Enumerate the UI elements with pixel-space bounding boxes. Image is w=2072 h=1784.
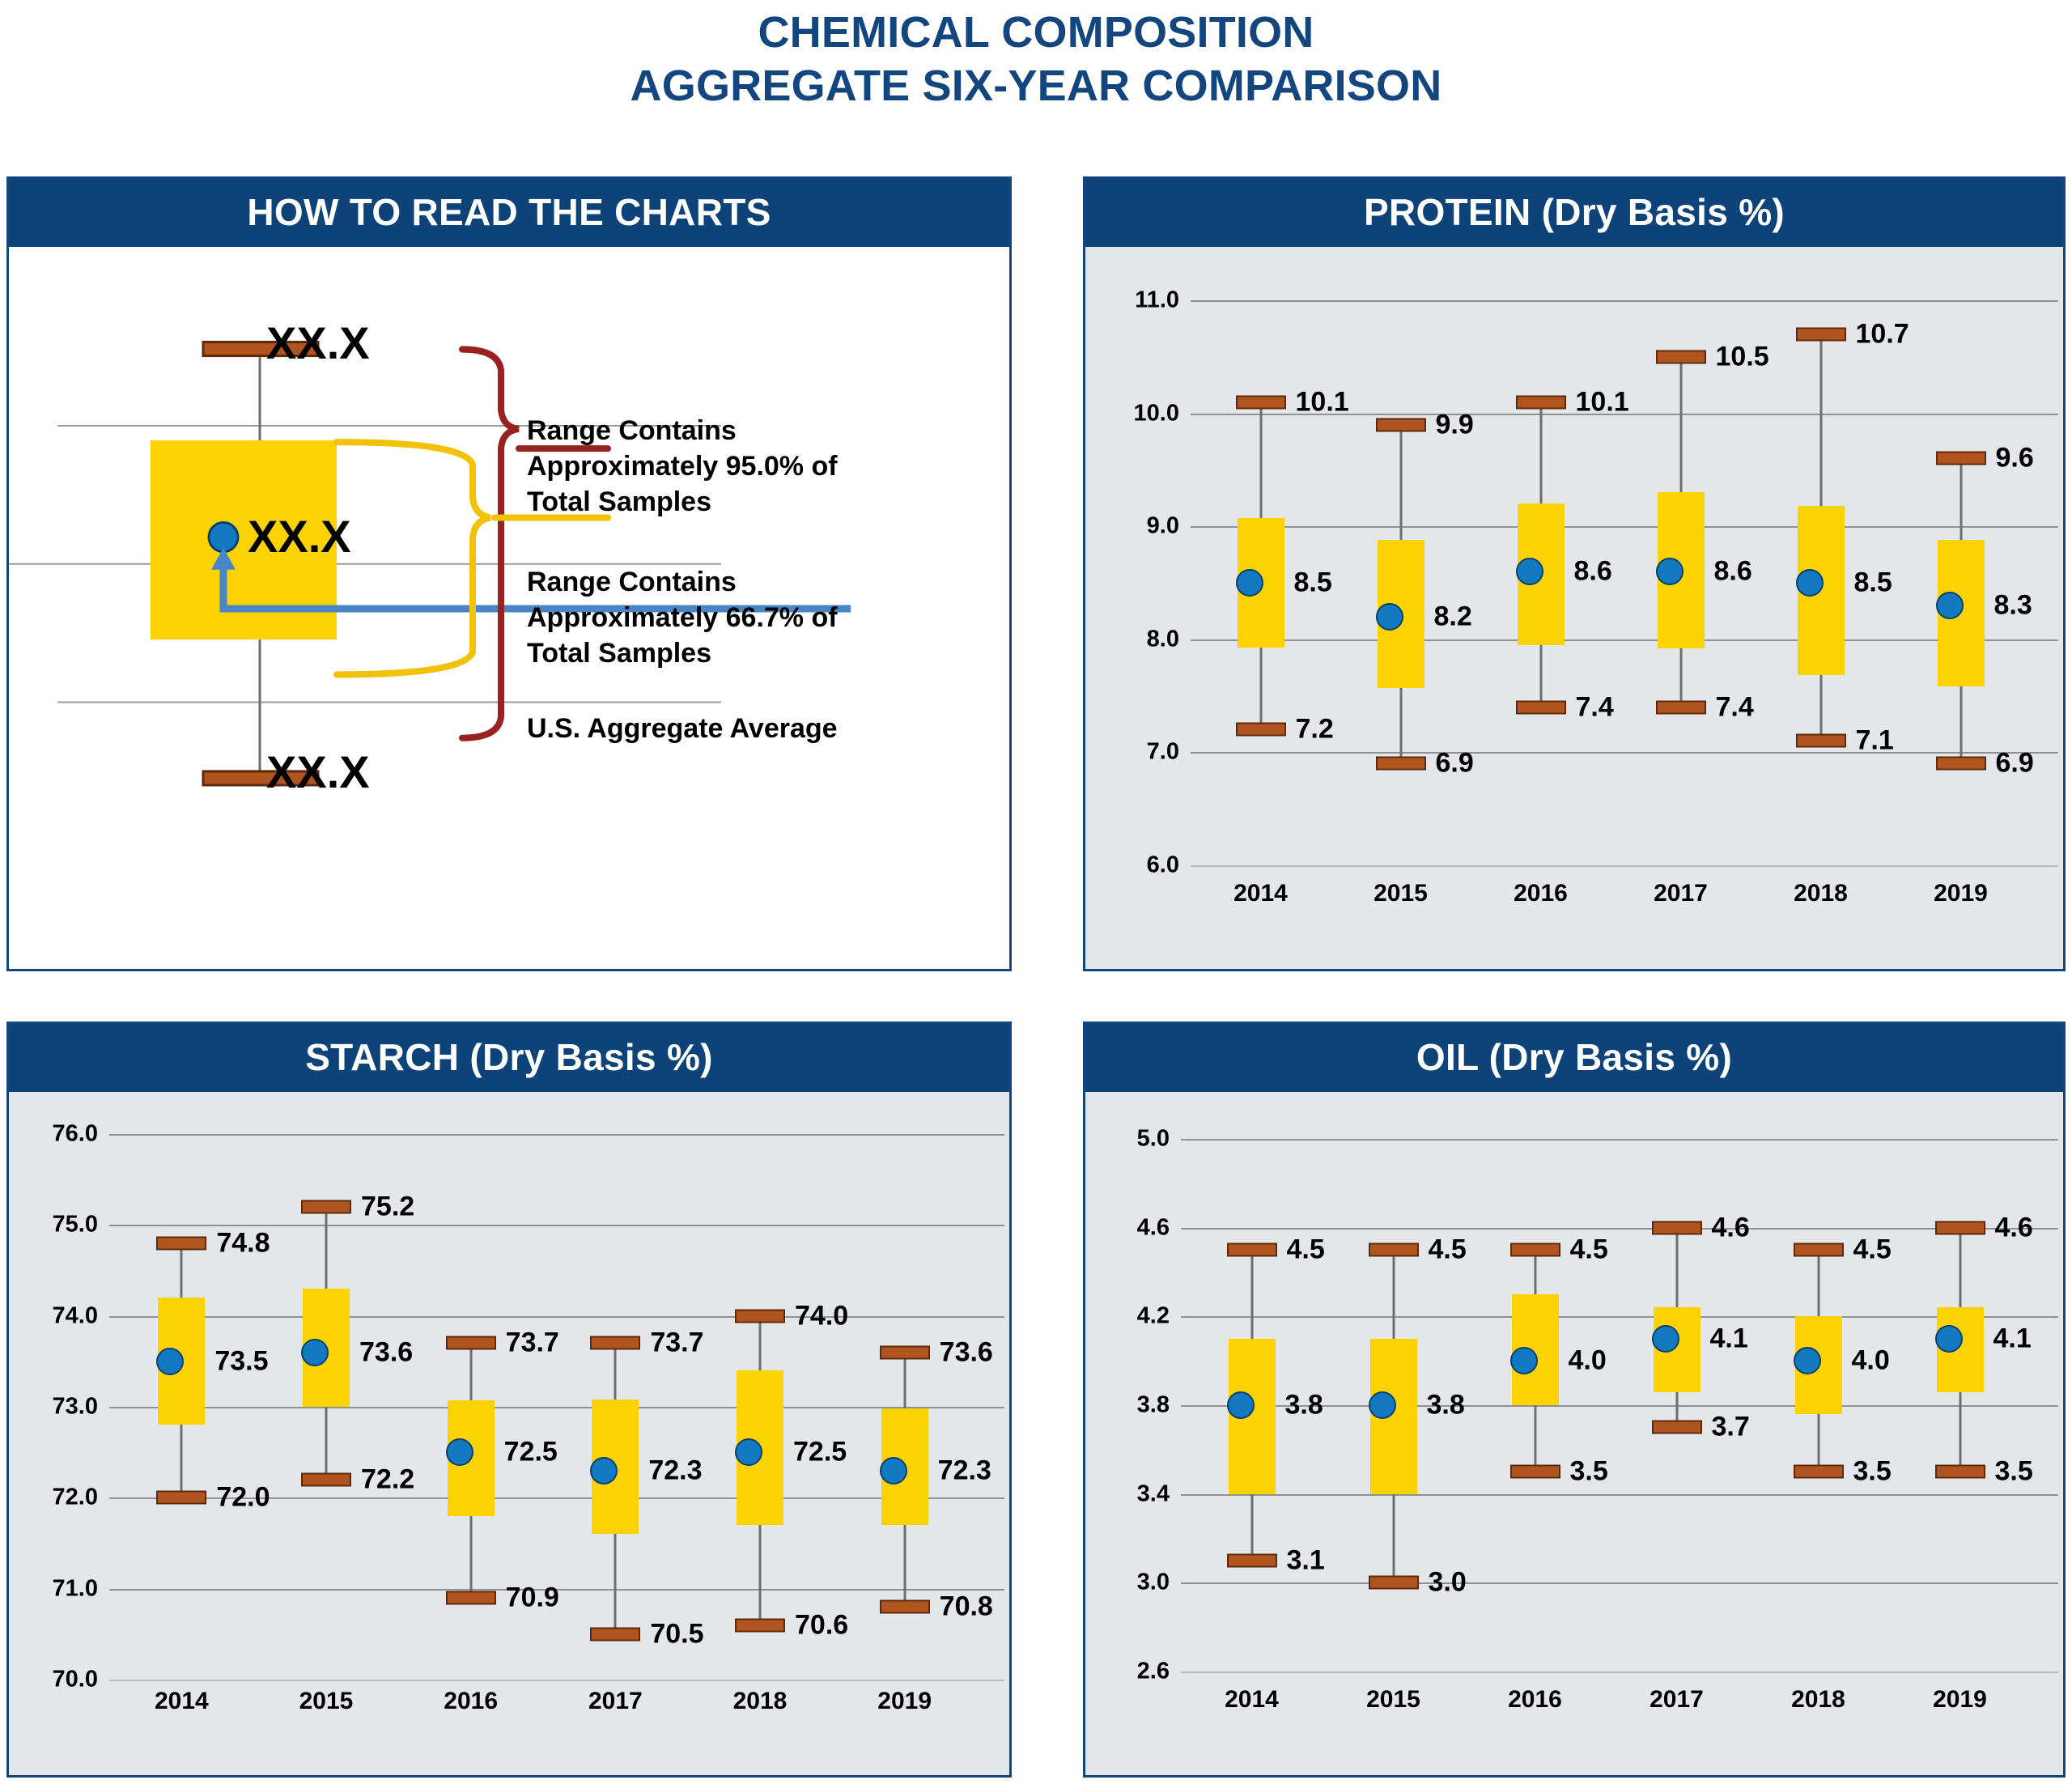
gridline xyxy=(1181,1671,2058,1673)
min-cap xyxy=(301,1472,351,1486)
mean-dot xyxy=(301,1339,329,1366)
gridline xyxy=(1191,300,2058,302)
max-cap xyxy=(1796,327,1846,341)
mean-value-label: 4.0 xyxy=(1852,1345,1890,1377)
panel-starch: STARCH (Dry Basis %) 70.071.072.073.074.… xyxy=(6,1022,1012,1778)
x-axis-year-label: 2014 xyxy=(155,1688,209,1715)
max-value-label: 75.2 xyxy=(361,1191,414,1222)
mean-value-label: 8.5 xyxy=(1854,567,1892,599)
mean-dot xyxy=(590,1457,618,1485)
mean-dot xyxy=(446,1438,473,1466)
y-axis-tick-label: 9.0 xyxy=(1085,513,1179,540)
max-value-label: 10.5 xyxy=(1716,341,1769,372)
min-value-label: 72.0 xyxy=(216,1482,270,1514)
mean-value-label: 72.5 xyxy=(504,1437,558,1468)
mean-dot xyxy=(735,1438,762,1466)
max-value-label: 9.9 xyxy=(1436,409,1474,440)
x-axis-year-label: 2018 xyxy=(1794,880,1848,907)
y-axis-tick-label: 3.0 xyxy=(1085,1569,1170,1596)
mean-value-label: 8.6 xyxy=(1714,556,1752,588)
oil-plot-area: 2.63.03.43.84.24.65.04.53.83.120144.53.8… xyxy=(1085,1092,2063,1775)
max-value-label: 4.5 xyxy=(1429,1234,1467,1266)
x-axis-year-label: 2015 xyxy=(1374,880,1428,907)
x-axis-year-label: 2017 xyxy=(588,1688,643,1715)
y-axis-tick-label: 8.0 xyxy=(1085,626,1179,652)
max-cap xyxy=(1936,452,1986,465)
min-cap xyxy=(156,1491,206,1505)
min-value-label: 6.9 xyxy=(1996,748,2034,779)
panel-protein-title: PROTEIN (Dry Basis %) xyxy=(1085,179,2063,247)
y-axis-tick-label: 73.0 xyxy=(9,1394,98,1421)
min-cap xyxy=(1794,1465,1844,1479)
mean-dot xyxy=(880,1457,907,1485)
min-value-label: 3.5 xyxy=(1853,1456,1892,1488)
mean-value-label: 8.2 xyxy=(1434,601,1472,632)
max-cap xyxy=(1227,1243,1277,1257)
gridline xyxy=(109,1407,1004,1408)
gridline xyxy=(1181,1139,2058,1140)
max-cap xyxy=(1794,1243,1844,1257)
mean-value-label: 73.5 xyxy=(214,1345,268,1377)
max-value-label: 4.5 xyxy=(1570,1234,1608,1266)
min-cap xyxy=(1936,757,1986,771)
mean-dot xyxy=(209,523,238,552)
min-value-label: 3.5 xyxy=(1995,1456,2033,1488)
gridline xyxy=(1191,526,2058,528)
mean-dot xyxy=(1510,1347,1538,1374)
min-value-label: 7.2 xyxy=(1296,714,1334,745)
max-value-label: 4.5 xyxy=(1853,1234,1892,1266)
min-value-label: 70.8 xyxy=(940,1591,993,1623)
y-axis-tick-label: 10.0 xyxy=(1085,400,1179,427)
oil-chart: 2.63.03.43.84.24.65.04.53.83.120144.53.8… xyxy=(1085,1092,2063,1775)
mean-value-label: 73.6 xyxy=(359,1336,413,1368)
max-cap xyxy=(1656,350,1706,363)
min-cap xyxy=(1935,1465,1985,1479)
y-axis-tick-label: 2.6 xyxy=(1085,1659,1170,1685)
gridline xyxy=(1181,1228,2058,1230)
x-axis-year-label: 2019 xyxy=(1934,880,1988,907)
x-axis-year-label: 2019 xyxy=(877,1688,932,1715)
x-axis-year-label: 2018 xyxy=(733,1688,788,1715)
y-axis-tick-label: 70.0 xyxy=(9,1667,98,1693)
mean-dot xyxy=(1376,603,1403,631)
min-cap xyxy=(735,1618,785,1632)
y-axis-tick-label: 75.0 xyxy=(9,1212,98,1238)
howto-mid-value: XX.X xyxy=(248,510,351,563)
page-title-line2: AGGREGATE SIX-YEAR COMPARISON xyxy=(0,60,2072,113)
max-cap xyxy=(156,1236,206,1250)
min-value-label: 6.9 xyxy=(1436,748,1474,779)
max-cap xyxy=(590,1336,640,1350)
panel-oil-title: OIL (Dry Basis %) xyxy=(1085,1024,2063,1092)
min-cap xyxy=(1652,1421,1702,1434)
min-value-label: 70.9 xyxy=(506,1582,559,1613)
mean-dot xyxy=(1935,1325,1963,1353)
max-value-label: 4.6 xyxy=(1712,1212,1750,1243)
mean-value-label: 72.3 xyxy=(938,1455,991,1486)
howto-note-667: Range Contains Approximately 66.7% of To… xyxy=(527,564,883,672)
page-title: CHEMICAL COMPOSITION AGGREGATE SIX-YEAR … xyxy=(0,6,2072,113)
max-value-label: 4.6 xyxy=(1995,1212,2033,1243)
mean-dot xyxy=(1236,569,1263,597)
min-value-label: 3.7 xyxy=(1712,1412,1750,1443)
mean-dot xyxy=(1227,1391,1255,1419)
max-value-label: 10.1 xyxy=(1296,386,1349,418)
poster-root: CHEMICAL COMPOSITION AGGREGATE SIX-YEAR … xyxy=(0,0,2072,1784)
gridline xyxy=(109,1680,1004,1681)
protein-plot-area: 6.07.08.09.010.011.010.18.57.220149.98.2… xyxy=(1085,247,2063,969)
mean-dot xyxy=(1369,1391,1396,1419)
min-value-label: 3.0 xyxy=(1429,1567,1467,1599)
panel-how-to-read: HOW TO READ THE CHARTS xyxy=(6,176,1012,971)
x-axis-year-label: 2016 xyxy=(1514,880,1568,907)
y-axis-tick-label: 4.6 xyxy=(1085,1214,1170,1241)
max-cap xyxy=(880,1345,930,1359)
x-axis-year-label: 2019 xyxy=(1933,1686,1987,1714)
max-value-label: 74.8 xyxy=(216,1227,270,1259)
max-value-label: 74.0 xyxy=(795,1300,848,1332)
min-cap xyxy=(446,1591,496,1604)
min-value-label: 7.4 xyxy=(1716,691,1754,723)
x-axis-year-label: 2015 xyxy=(1366,1686,1420,1714)
min-value-label: 3.5 xyxy=(1570,1456,1608,1488)
y-axis-tick-label: 7.0 xyxy=(1085,739,1179,766)
min-cap xyxy=(1236,723,1286,737)
mean-dot xyxy=(1936,592,1964,619)
min-cap xyxy=(1510,1465,1560,1479)
max-value-label: 9.6 xyxy=(1996,443,2034,474)
y-axis-tick-label: 3.8 xyxy=(1085,1392,1170,1419)
min-cap xyxy=(880,1600,930,1614)
y-axis-tick-label: 5.0 xyxy=(1085,1126,1170,1153)
max-cap xyxy=(1369,1243,1419,1257)
max-cap xyxy=(735,1309,785,1323)
gridline xyxy=(109,1225,1004,1226)
max-value-label: 73.7 xyxy=(650,1327,703,1359)
min-cap xyxy=(1227,1553,1277,1567)
mean-value-label: 3.8 xyxy=(1285,1390,1323,1421)
mean-value-label: 72.5 xyxy=(793,1437,847,1468)
x-axis-year-label: 2014 xyxy=(1233,880,1288,907)
range-667-bracket xyxy=(337,442,490,674)
max-cap xyxy=(1510,1243,1560,1257)
mean-dot xyxy=(156,1348,184,1375)
x-axis-year-label: 2016 xyxy=(1508,1686,1562,1714)
min-value-label: 72.2 xyxy=(361,1463,414,1495)
min-cap xyxy=(1656,700,1706,714)
min-cap xyxy=(1369,1576,1419,1590)
y-axis-tick-label: 72.0 xyxy=(9,1485,98,1511)
howto-note-aggregate-average: U.S. Aggregate Average xyxy=(527,711,907,746)
howto-top-value: XX.X xyxy=(266,316,370,369)
max-value-label: 10.1 xyxy=(1576,386,1629,418)
min-value-label: 70.5 xyxy=(650,1618,703,1650)
panel-starch-title: STARCH (Dry Basis %) xyxy=(9,1024,1009,1092)
mean-value-label: 72.3 xyxy=(648,1455,702,1486)
gridline xyxy=(109,1134,1004,1136)
starch-plot-area: 70.071.072.073.074.075.076.074.873.572.0… xyxy=(9,1092,1009,1775)
y-axis-tick-label: 74.0 xyxy=(9,1302,98,1329)
x-axis-year-label: 2017 xyxy=(1654,880,1708,907)
gridline xyxy=(1191,865,2058,867)
panel-how-to-read-title: HOW TO READ THE CHARTS xyxy=(9,179,1009,247)
y-axis-tick-label: 4.2 xyxy=(1085,1303,1170,1330)
how-to-read-diagram: XX.X XX.X XX.X Range Contains Approximat… xyxy=(9,247,1009,969)
max-cap xyxy=(1236,395,1286,409)
min-cap xyxy=(1516,700,1566,714)
mean-value-label: 4.1 xyxy=(1993,1323,2032,1354)
min-value-label: 7.4 xyxy=(1576,691,1614,723)
y-axis-tick-label: 71.0 xyxy=(9,1575,98,1602)
gridline xyxy=(1181,1494,2058,1496)
x-axis-year-label: 2015 xyxy=(299,1688,354,1715)
min-value-label: 7.1 xyxy=(1856,725,1894,757)
min-cap xyxy=(590,1627,640,1641)
mean-dot xyxy=(1794,1347,1821,1374)
x-axis-year-label: 2016 xyxy=(444,1688,498,1715)
gridline xyxy=(1191,639,2058,641)
y-axis-tick-label: 76.0 xyxy=(9,1121,98,1148)
mean-value-label: 8.5 xyxy=(1294,567,1332,599)
gridline xyxy=(1181,1582,2058,1584)
max-cap xyxy=(301,1200,351,1213)
y-axis-tick-label: 3.4 xyxy=(1085,1480,1170,1507)
panel-oil: OIL (Dry Basis %) 2.63.03.43.84.24.65.04… xyxy=(1083,1022,2066,1778)
mean-dot xyxy=(1796,569,1824,597)
max-cap xyxy=(1376,418,1426,431)
max-cap xyxy=(1516,395,1566,409)
x-axis-year-label: 2017 xyxy=(1650,1686,1704,1714)
y-axis-tick-label: 6.0 xyxy=(1085,852,1179,879)
max-cap xyxy=(446,1336,496,1350)
gridline xyxy=(109,1316,1004,1318)
y-axis-tick-label: 11.0 xyxy=(1085,287,1179,314)
max-cap xyxy=(1935,1221,1985,1234)
mean-value-label: 8.6 xyxy=(1574,556,1612,588)
max-value-label: 4.5 xyxy=(1287,1234,1325,1266)
min-cap xyxy=(1376,757,1426,771)
x-axis-year-label: 2018 xyxy=(1791,1686,1845,1714)
mean-value-label: 3.8 xyxy=(1427,1390,1465,1421)
gridline xyxy=(1181,1316,2058,1318)
mean-value-label: 4.0 xyxy=(1569,1345,1607,1377)
howto-note-95: Range Contains Approximately 95.0% of To… xyxy=(527,413,883,520)
protein-chart: 6.07.08.09.010.011.010.18.57.220149.98.2… xyxy=(1085,247,2063,969)
min-value-label: 3.1 xyxy=(1287,1544,1325,1576)
mean-dot xyxy=(1652,1325,1679,1353)
mean-dot xyxy=(1516,558,1543,585)
max-value-label: 10.7 xyxy=(1856,318,1909,350)
max-cap xyxy=(1652,1221,1702,1234)
mean-value-label: 4.1 xyxy=(1710,1323,1748,1354)
max-value-label: 73.6 xyxy=(940,1336,993,1368)
howto-bottom-value: XX.X xyxy=(266,745,370,798)
x-axis-year-label: 2014 xyxy=(1225,1686,1279,1714)
mean-dot xyxy=(1656,558,1683,585)
page-title-line1: CHEMICAL COMPOSITION xyxy=(0,6,2072,60)
panel-protein: PROTEIN (Dry Basis %) 6.07.08.09.010.011… xyxy=(1083,176,2066,971)
gridline xyxy=(1191,752,2058,754)
mean-value-label: 8.3 xyxy=(1994,589,2032,621)
starch-chart: 70.071.072.073.074.075.076.074.873.572.0… xyxy=(9,1092,1009,1775)
min-value-label: 70.6 xyxy=(795,1609,848,1641)
min-cap xyxy=(1796,734,1846,748)
max-value-label: 73.7 xyxy=(506,1327,559,1359)
